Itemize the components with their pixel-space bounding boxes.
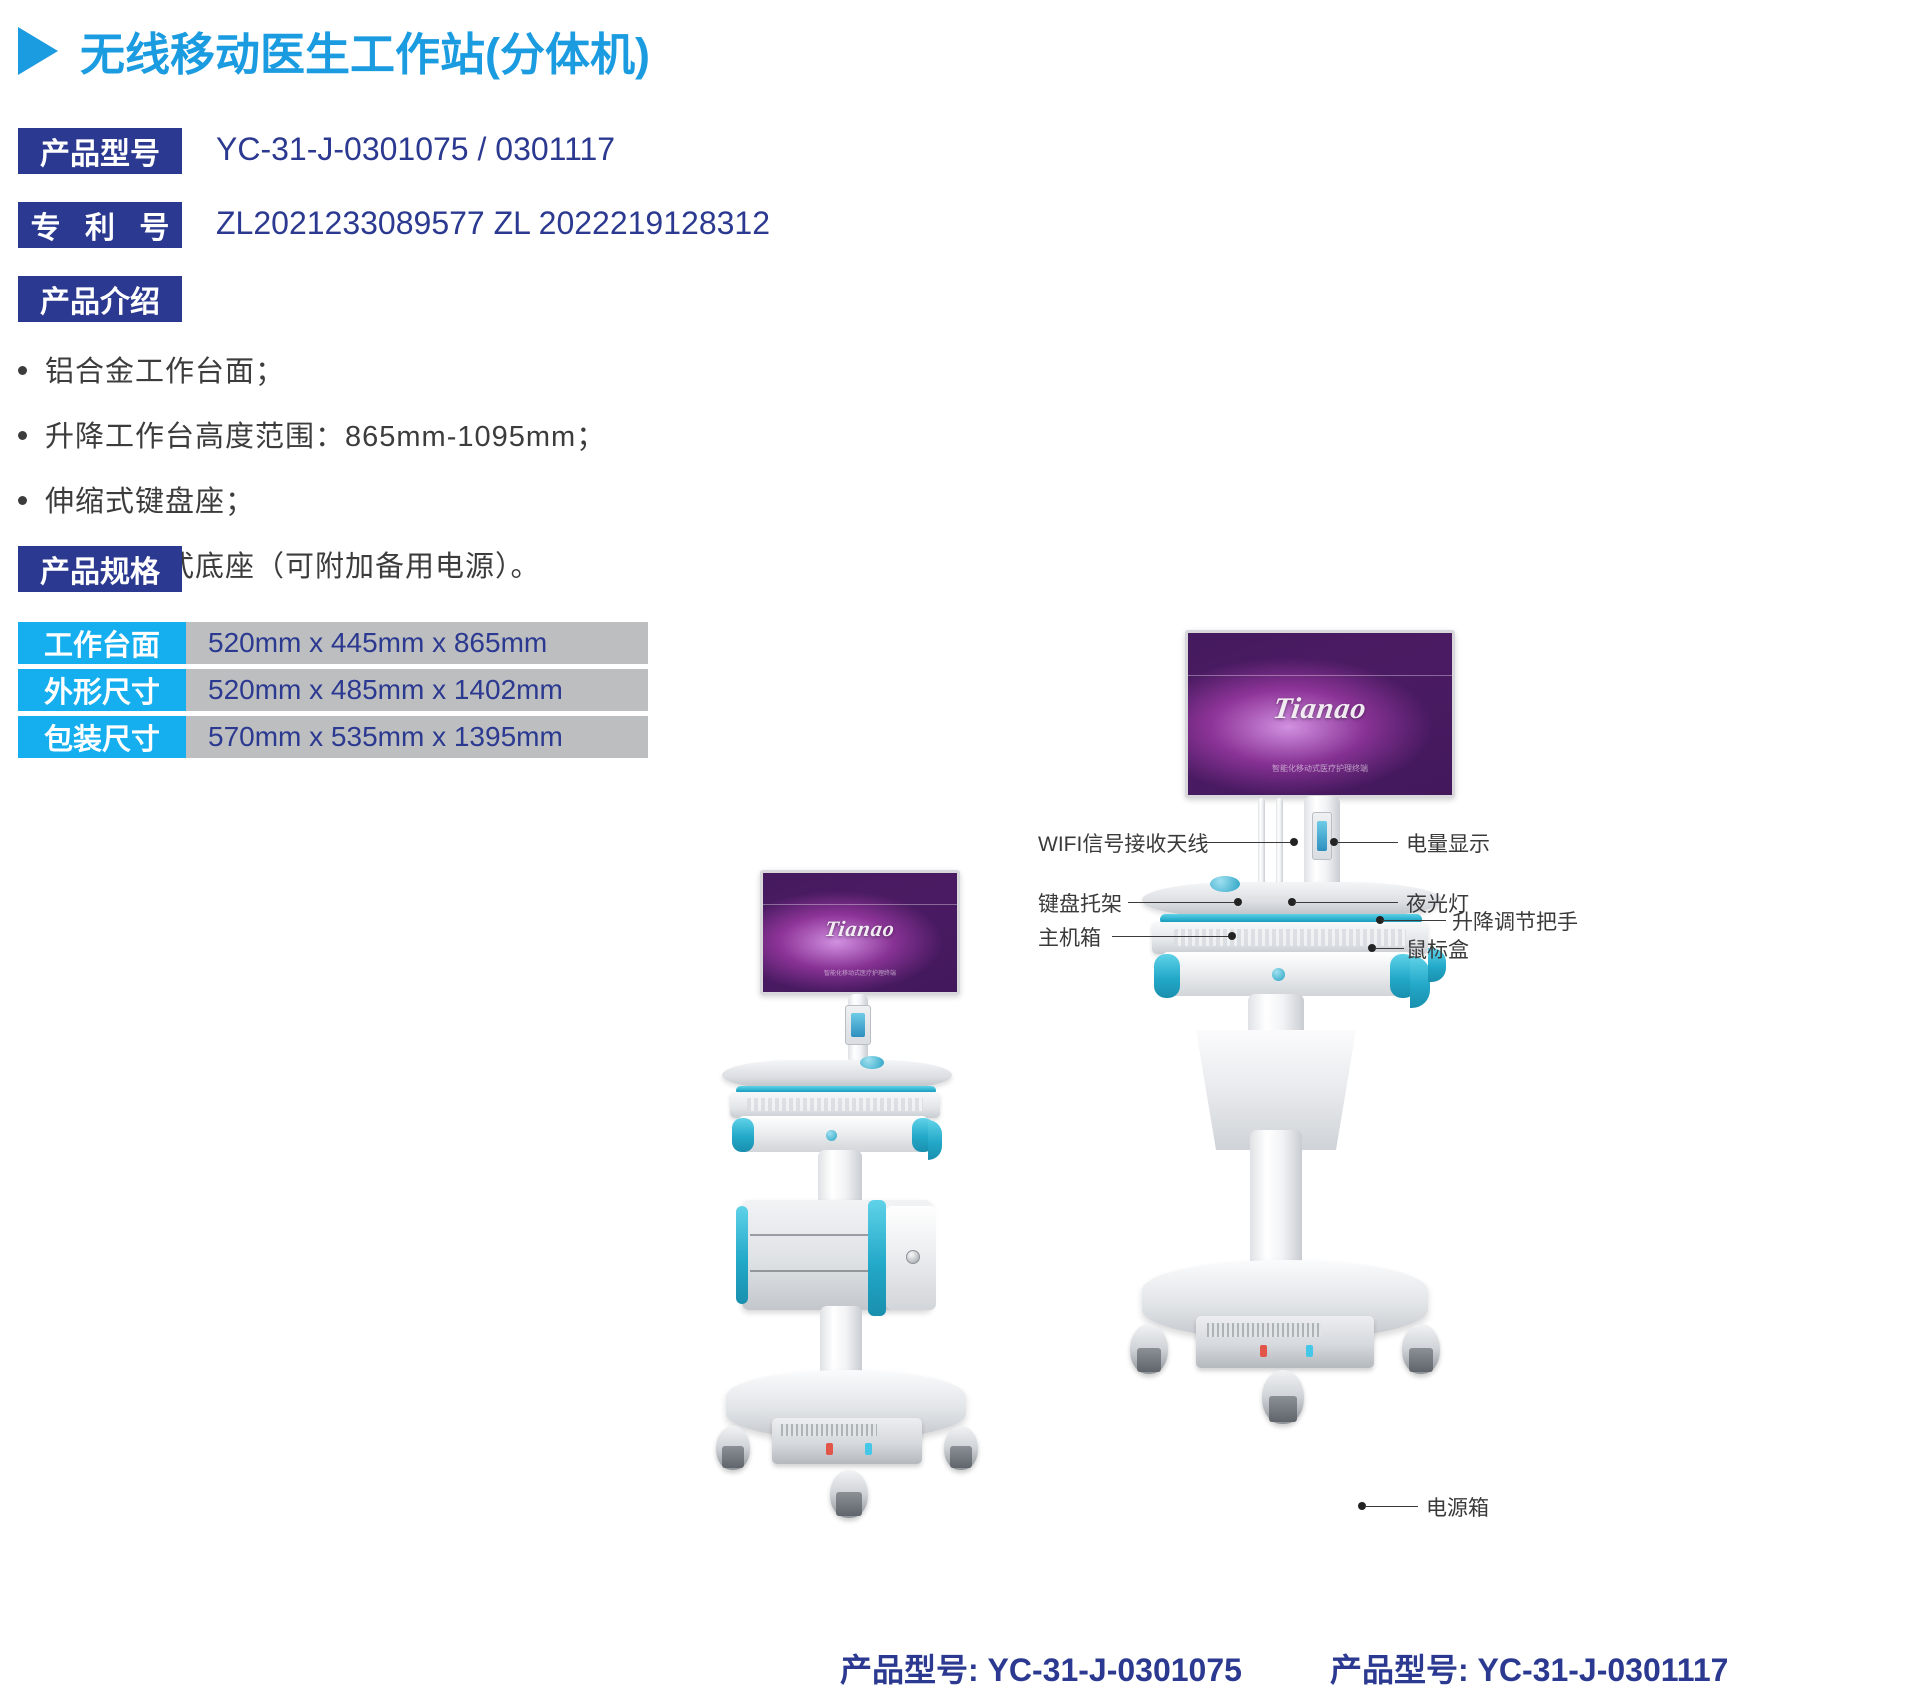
- battery-level-bar: [1317, 821, 1327, 850]
- battery-display-module: [845, 1005, 871, 1045]
- wifi-antenna-icon: [1258, 798, 1265, 890]
- power-indicator-icon: [1272, 968, 1285, 981]
- caster-tread: [722, 1446, 744, 1468]
- spec-key: 工作台面: [18, 622, 186, 664]
- red-indicator-icon: [826, 1443, 833, 1455]
- cart-illustration-right: Tianao 智能化移动式医疗护理终端: [1090, 630, 1550, 1610]
- product-figure-left: Tianao 智能化移动式医疗护理终端: [700, 870, 1120, 1610]
- callout-leader-line: [1336, 842, 1398, 843]
- bullet-dot-icon: [18, 496, 27, 505]
- callout-keyboard-tray: 键盘托架: [1038, 888, 1122, 918]
- caster-tread: [1269, 1396, 1297, 1422]
- host-computer-box: [1162, 952, 1412, 996]
- figure-caption-right: 产品型号: YC-31-J-0301117: [1330, 1645, 1728, 1691]
- callout-mouse-box: 鼠标盒: [1406, 934, 1469, 964]
- list-item: 升降工作台高度范围：865mm-1095mm；: [18, 413, 606, 455]
- label-product-specs: 产品规格: [18, 546, 182, 592]
- callout-power-box: 电源箱: [1426, 1492, 1489, 1522]
- callout-leader-line: [1382, 920, 1446, 921]
- list-item-label: 铝合金工作台面；: [45, 348, 285, 390]
- callout-host-box: 主机箱: [1038, 922, 1101, 952]
- monitor-logo: Tianao: [823, 916, 897, 942]
- bullet-dot-icon: [18, 366, 27, 375]
- battery-level-bar: [851, 1013, 864, 1037]
- vent-grille: [1207, 1323, 1321, 1337]
- monitor-logo: Tianao: [1271, 692, 1369, 726]
- caster-tread: [950, 1446, 972, 1468]
- night-light-knob: [860, 1056, 884, 1069]
- monitor-screen: Tianao 智能化移动式医疗护理终端: [760, 870, 960, 995]
- product-figure-right: Tianao 智能化移动式医疗护理终端: [1090, 630, 1550, 1610]
- caster-tread: [836, 1492, 862, 1516]
- spec-value: 520mm x 445mm x 865mm: [186, 622, 648, 664]
- monitor-screen: Tianao 智能化移动式医疗护理终端: [1185, 630, 1455, 798]
- power-indicator-icon: [826, 1130, 837, 1141]
- callout-wifi-antenna: WIFI信号接收天线: [1038, 828, 1208, 858]
- callout-leader-line: [1294, 902, 1398, 903]
- callout-leader-line: [1128, 902, 1236, 903]
- label-product-intro: 产品介绍: [18, 276, 182, 322]
- power-supply-box: [1196, 1316, 1374, 1368]
- red-indicator-icon: [1260, 1345, 1267, 1357]
- table-row: 工作台面 520mm x 445mm x 865mm: [18, 622, 648, 664]
- callout-leader-line: [1204, 842, 1292, 843]
- battery-display-module: [1312, 812, 1332, 860]
- spec-table: 工作台面 520mm x 445mm x 865mm 外形尺寸 520mm x …: [18, 622, 648, 763]
- blue-indicator-icon: [1306, 1345, 1313, 1357]
- callout-leader-line: [1364, 1506, 1418, 1507]
- caster-tread: [1409, 1348, 1433, 1372]
- wifi-antenna-icon: [1276, 798, 1283, 890]
- spec-key: 外形尺寸: [18, 669, 186, 711]
- table-row: 外形尺寸 520mm x 485mm x 1402mm: [18, 669, 648, 711]
- keyboard-tray: [730, 1092, 940, 1118]
- callout-leader-line: [1112, 936, 1230, 937]
- host-box-accent-left: [1154, 954, 1180, 998]
- vent-grille: [781, 1424, 877, 1436]
- callout-battery-display: 电量显示: [1406, 828, 1490, 858]
- night-light-knob: [1210, 876, 1240, 892]
- triangle-right-icon: [18, 27, 58, 75]
- drawer-accent-mid: [868, 1200, 886, 1316]
- callout-leader-line: [1374, 948, 1404, 949]
- list-item-label: 伸缩式键盘座；: [45, 478, 255, 520]
- product-spec-page: 无线移动医生工作站(分体机) 产品型号 YC-31-J-0301075 / 03…: [0, 0, 1922, 1706]
- lower-column: [1250, 1130, 1302, 1280]
- bullet-dot-icon: [18, 431, 27, 440]
- cabinet-lock-icon: [906, 1250, 920, 1264]
- page-title: 无线移动医生工作站(分体机): [18, 18, 650, 83]
- table-row: 包装尺寸 570mm x 535mm x 1395mm: [18, 716, 648, 758]
- callout-lift-adjust-handle: 升降调节把手: [1452, 906, 1578, 936]
- drawer-accent-left: [736, 1206, 748, 1304]
- page-title-text: 无线移动医生工作站(分体机): [80, 18, 650, 83]
- value-patent-number: ZL2021233089577 ZL 2022219128312: [216, 205, 770, 242]
- list-item: 铝合金工作台面；: [18, 348, 606, 390]
- power-supply-box: [772, 1418, 922, 1464]
- keyboard-keys: [747, 1098, 923, 1112]
- value-product-model: YC-31-J-0301075 / 0301117: [216, 131, 615, 168]
- figure-caption-left: 产品型号: YC-31-J-0301075: [840, 1645, 1242, 1691]
- spec-value: 570mm x 535mm x 1395mm: [186, 716, 648, 758]
- keyboard-tray: [1152, 922, 1428, 954]
- monitor-subtitle: 智能化移动式医疗护理终端: [1272, 763, 1368, 774]
- cart-illustration-left: Tianao 智能化移动式医疗护理终端: [700, 870, 1120, 1610]
- label-product-model: 产品型号: [18, 128, 182, 174]
- callout-anchor-dot: [1228, 932, 1236, 940]
- callout-anchor-dot: [1234, 898, 1242, 906]
- caster-tread: [1137, 1348, 1161, 1372]
- label-patent-number: 专 利 号: [18, 202, 182, 248]
- monitor-subtitle: 智能化移动式医疗护理终端: [824, 968, 896, 977]
- mouse-box-hook: [928, 1120, 942, 1160]
- spec-key: 包装尺寸: [18, 716, 186, 758]
- list-item: 伸缩式键盘座；: [18, 478, 606, 520]
- callout-anchor-dot: [1290, 838, 1298, 846]
- spec-value: 520mm x 485mm x 1402mm: [186, 669, 648, 711]
- list-item-label: 升降工作台高度范围：865mm-1095mm；: [45, 413, 606, 455]
- host-box-accent-left: [732, 1118, 754, 1152]
- blue-indicator-icon: [865, 1443, 872, 1455]
